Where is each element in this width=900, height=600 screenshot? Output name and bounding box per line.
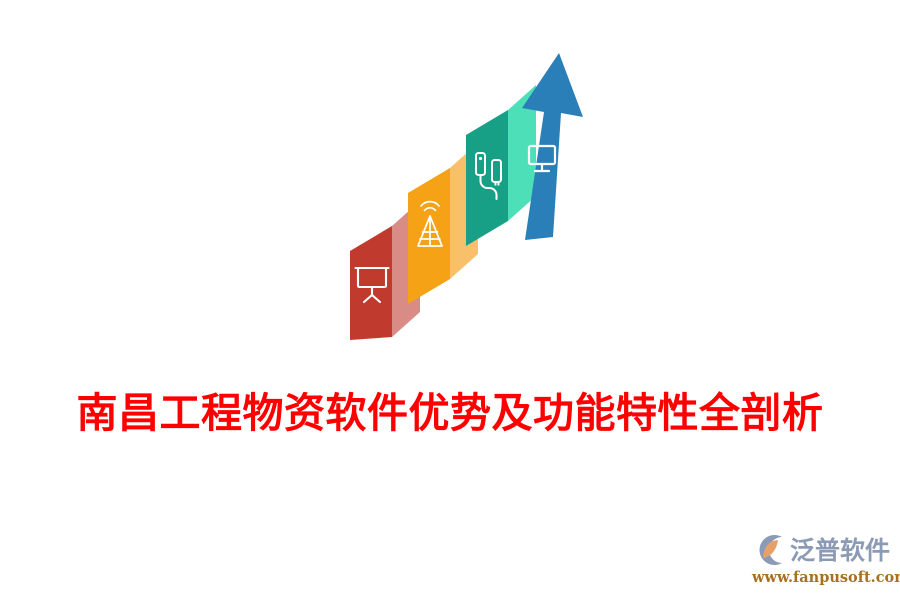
fanpu-logo-icon <box>752 533 786 567</box>
hero-arrow-graphic <box>330 40 610 340</box>
page-title: 南昌工程物资软件优势及功能特性全剖析 <box>77 385 824 441</box>
brand-name: 泛普软件 <box>790 538 890 563</box>
bar-segment-teal <box>466 85 536 246</box>
brand-logo-row: 泛普软件 <box>752 532 882 568</box>
title-block: 南昌工程物资软件优势及功能特性全剖析 <box>0 385 900 441</box>
bar-segment-blue-arrow <box>522 53 594 240</box>
brand-logo[interactable]: 泛普软件 www.fanpusoft.com <box>752 532 882 588</box>
poster-canvas: 南昌工程物资软件优势及功能特性全剖析 泛普软件 www.fanpusoft.co… <box>0 0 900 600</box>
brand-url: www.fanpusoft.com <box>752 569 882 586</box>
